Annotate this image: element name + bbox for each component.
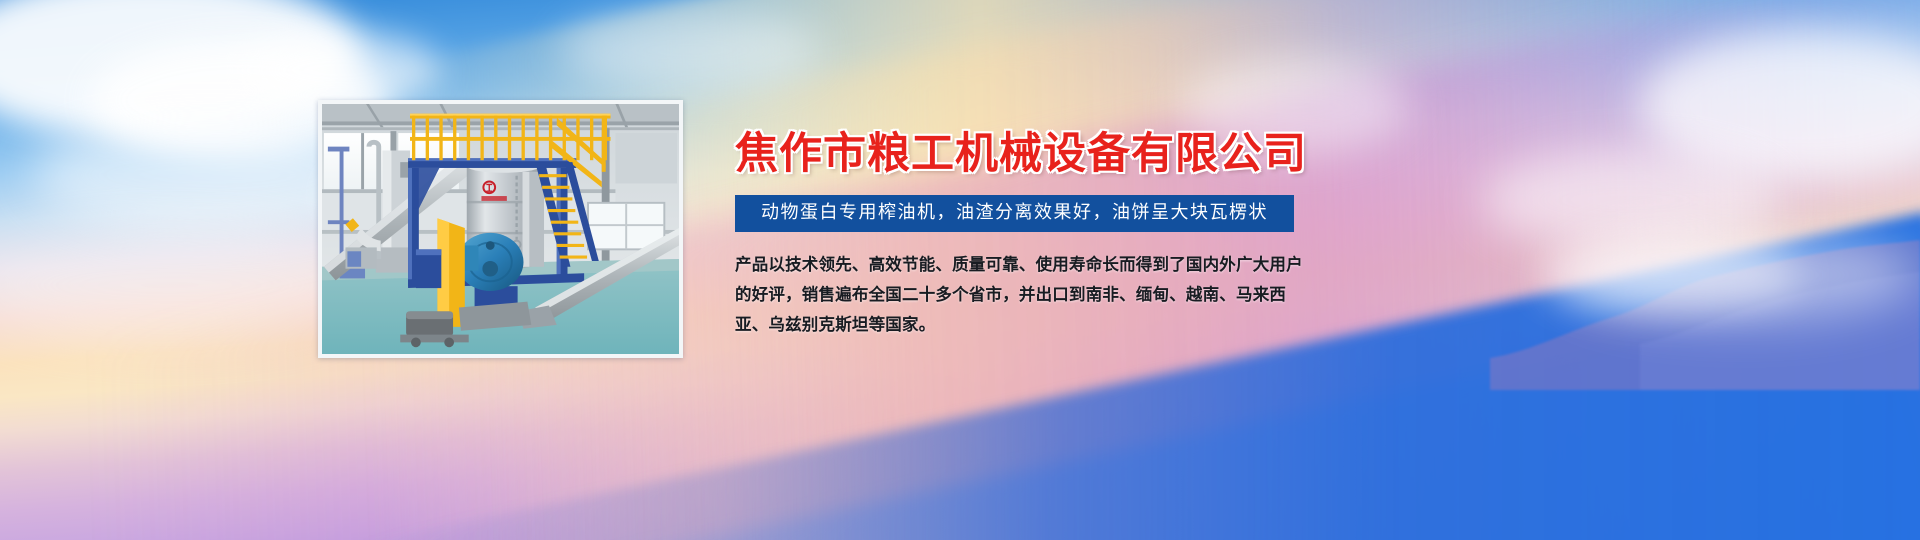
cloud [1540, 240, 1800, 310]
tagline-text: 动物蛋白专用榨油机，油渣分离效果好，油饼呈大块瓦楞状 [761, 202, 1268, 223]
tagline-bar: 动物蛋白专用榨油机，油渣分离效果好，油饼呈大块瓦楞状 [735, 195, 1294, 232]
banner-stage: 焦作市粮工机械设备有限公司 动物蛋白专用榨油机，油渣分离效果好，油饼呈大块瓦楞状… [0, 0, 1920, 540]
banner-copy: 焦作市粮工机械设备有限公司 动物蛋白专用榨油机，油渣分离效果好，油饼呈大块瓦楞状… [735, 130, 1555, 356]
factory-equipment-illustration [322, 104, 679, 354]
cloud [240, 30, 440, 110]
cloud [560, 10, 820, 90]
product-photo-frame [318, 100, 683, 358]
company-description: 产品以技术领先、高效节能、质量可靠、使用寿命长而得到了国内外广大用户的好评，销售… [735, 250, 1307, 340]
company-title: 焦作市粮工机械设备有限公司 [735, 130, 1555, 178]
product-photo [322, 104, 679, 354]
